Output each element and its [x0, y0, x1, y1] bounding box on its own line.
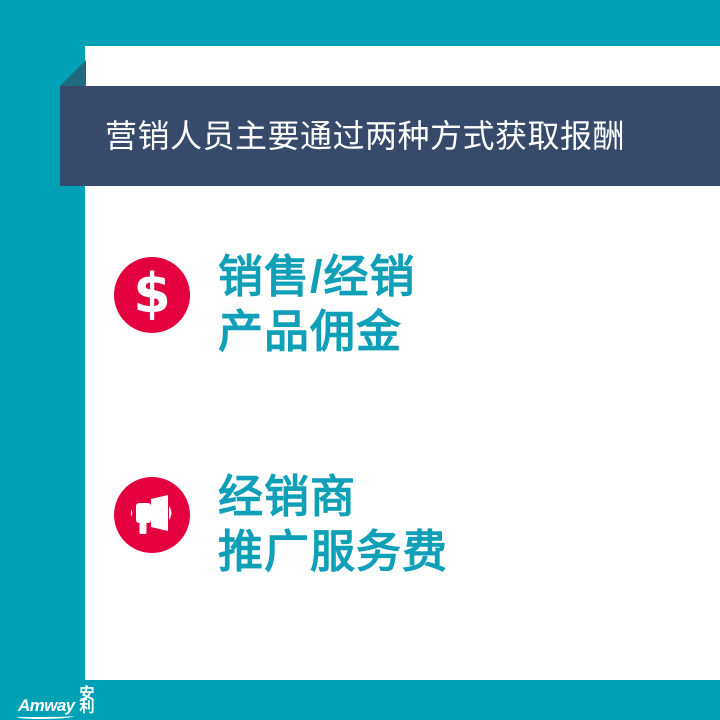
megaphone-badge — [114, 477, 190, 553]
page-title: 营销人员主要通过两种方式获取报酬 — [105, 120, 625, 152]
footer-band — [0, 680, 720, 720]
slide-canvas: 营销人员主要通过两种方式获取报酬 $ 销售/经销 产品佣金 — [0, 0, 720, 720]
amway-chinese-mark: 安 利 — [79, 687, 95, 713]
ribbon-fold-decoration — [60, 60, 86, 86]
list-item-line-1: 经销商 — [218, 470, 448, 525]
list-item: 经销商 推广服务费 — [114, 470, 694, 580]
dollar-sign-icon: $ — [114, 257, 190, 333]
benefit-list: $ 销售/经销 产品佣金 — [114, 250, 694, 580]
list-item-line-2: 产品佣金 — [218, 305, 416, 360]
megaphone-icon — [130, 495, 174, 535]
list-item: $ 销售/经销 产品佣金 — [114, 250, 694, 360]
list-item-line-1: 销售/经销 — [218, 250, 416, 305]
header-banner: 营销人员主要通过两种方式获取报酬 — [60, 86, 720, 186]
amway-chinese-bottom: 利 — [79, 700, 94, 712]
dollar-sign-badge: $ — [114, 257, 190, 333]
list-item-line-2: 推广服务费 — [218, 525, 448, 580]
amway-wordmark: Amway — [18, 697, 75, 714]
amway-logo: Amway 安 利 — [18, 676, 95, 714]
list-item-text: 销售/经销 产品佣金 — [218, 250, 416, 360]
list-item-text: 经销商 推广服务费 — [218, 470, 448, 580]
